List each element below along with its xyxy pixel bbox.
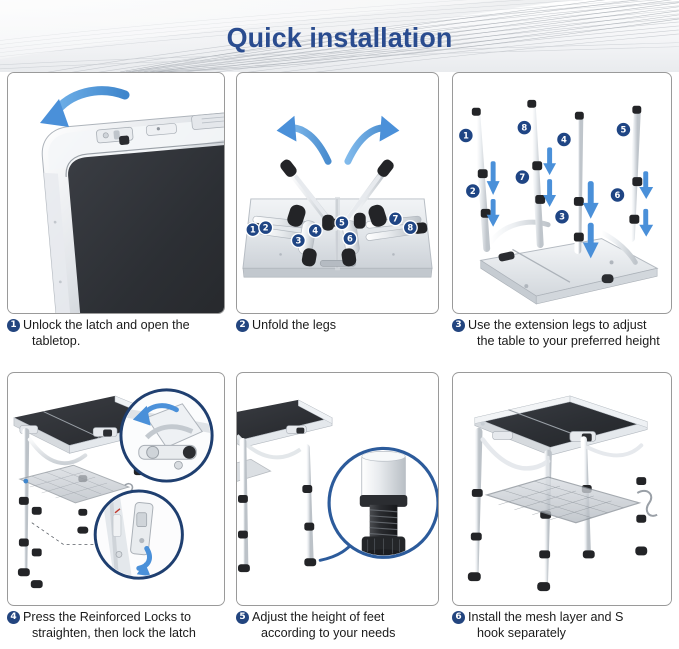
step-cell-4: 4 Press the Reinforced Locks tostraighte… (7, 372, 225, 649)
step-cell-6: 6 Install the mesh layer and Shook separ… (452, 372, 672, 649)
reinforced-locks-detail-image (8, 373, 224, 605)
step-cell-2: 1 2 3 4 5 6 7 8 2 Unfold the legs (236, 72, 439, 357)
step-image-panel-5 (236, 372, 439, 606)
step-caption-3: 3 Use the extension legs to adjustthe ta… (452, 318, 672, 349)
folded-table-underside-image: 1 2 3 4 5 6 7 8 (237, 73, 438, 313)
step-badge-5: 5 (236, 611, 249, 624)
svg-text:4: 4 (561, 134, 567, 144)
steps-grid: 1 Unlock the latch and open thetabletop. (0, 72, 679, 649)
step-image-panel-1 (7, 72, 225, 314)
svg-text:5: 5 (621, 125, 627, 135)
step-caption-4: 4 Press the Reinforced Locks tostraighte… (7, 610, 225, 641)
svg-text:1: 1 (463, 131, 469, 141)
svg-text:7: 7 (519, 172, 525, 182)
step-badge-3: 3 (452, 319, 465, 332)
step-caption-6: 6 Install the mesh layer and Shook separ… (452, 610, 672, 641)
step-caption-5: 5 Adjust the height of feetaccording to … (236, 610, 439, 641)
svg-text:6: 6 (615, 190, 621, 200)
assembled-table-with-mesh-image (453, 373, 671, 605)
step-cell-5: 5 Adjust the height of feetaccording to … (236, 372, 439, 649)
svg-text:8: 8 (521, 123, 527, 133)
step-caption-text-1: Unlock the latch and open thetabletop. (23, 318, 225, 349)
step-cell-1: 1 Unlock the latch and open thetabletop. (7, 72, 225, 357)
step-badge-4: 4 (7, 611, 20, 624)
step-caption-2: 2 Unfold the legs (236, 318, 439, 334)
svg-text:5: 5 (339, 218, 345, 228)
svg-text:8: 8 (407, 223, 413, 233)
extension-legs-adjust-image: 1 2 3 4 5 6 7 8 (453, 73, 671, 313)
step-image-panel-3: 1 2 3 4 5 6 7 8 (452, 72, 672, 314)
table-corner-latch-closeup-image (8, 73, 224, 313)
svg-text:3: 3 (295, 235, 301, 245)
step-caption-text-5: Adjust the height of feetaccording to yo… (252, 610, 439, 641)
svg-text:3: 3 (559, 212, 565, 222)
step-caption-text-6: Install the mesh layer and Shook separat… (468, 610, 672, 641)
adjustable-foot-detail-image (237, 373, 438, 605)
step-image-panel-2: 1 2 3 4 5 6 7 8 (236, 72, 439, 314)
callout-adjustable-foot (329, 448, 438, 559)
step-image-panel-4 (7, 372, 225, 606)
svg-text:7: 7 (392, 214, 398, 224)
step-badge-6: 6 (452, 611, 465, 624)
step-badge-2: 2 (236, 319, 249, 332)
step-cell-3: 1 2 3 4 5 6 7 8 3 Use the extension legs… (452, 72, 672, 357)
svg-text:1: 1 (250, 225, 256, 235)
step-caption-text-4: Press the Reinforced Locks tostraighten,… (23, 610, 225, 641)
svg-text:4: 4 (312, 226, 318, 236)
page-header: Quick installation (0, 0, 679, 72)
step-badge-1: 1 (7, 319, 20, 332)
callout-latch (95, 491, 182, 578)
svg-text:6: 6 (347, 234, 353, 244)
step-caption-1: 1 Unlock the latch and open thetabletop. (7, 318, 225, 349)
step-caption-text-2: Unfold the legs (252, 318, 439, 334)
page-title: Quick installation (14, 22, 666, 54)
step-image-panel-6 (452, 372, 672, 606)
svg-text:2: 2 (263, 223, 269, 233)
svg-text:2: 2 (470, 186, 476, 196)
step-caption-text-3: Use the extension legs to adjustthe tabl… (468, 318, 672, 349)
